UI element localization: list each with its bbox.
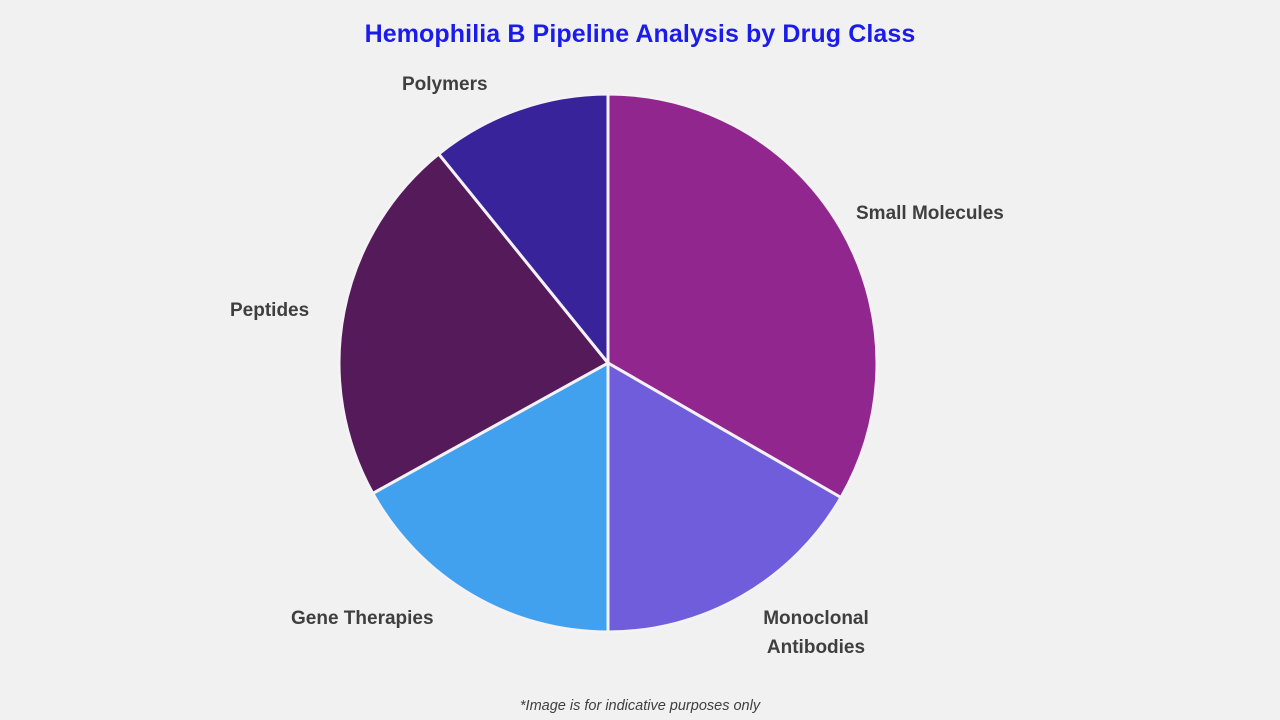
pie-chart-canvas — [0, 0, 1280, 720]
slice-label-small-molecules: Small Molecules — [856, 199, 1004, 228]
slice-label-monoclonal-antibodies: Monoclonal Antibodies — [752, 604, 880, 662]
slice-label-gene-therapies: Gene Therapies — [291, 604, 434, 633]
pie-slices-group — [339, 94, 877, 632]
pie-chart-figure: Hemophilia B Pipeline Analysis by Drug C… — [0, 0, 1280, 720]
slice-label-peptides: Peptides — [230, 296, 309, 325]
chart-footnote: *Image is for indicative purposes only — [0, 698, 1280, 714]
slice-label-polymers: Polymers — [402, 70, 488, 99]
